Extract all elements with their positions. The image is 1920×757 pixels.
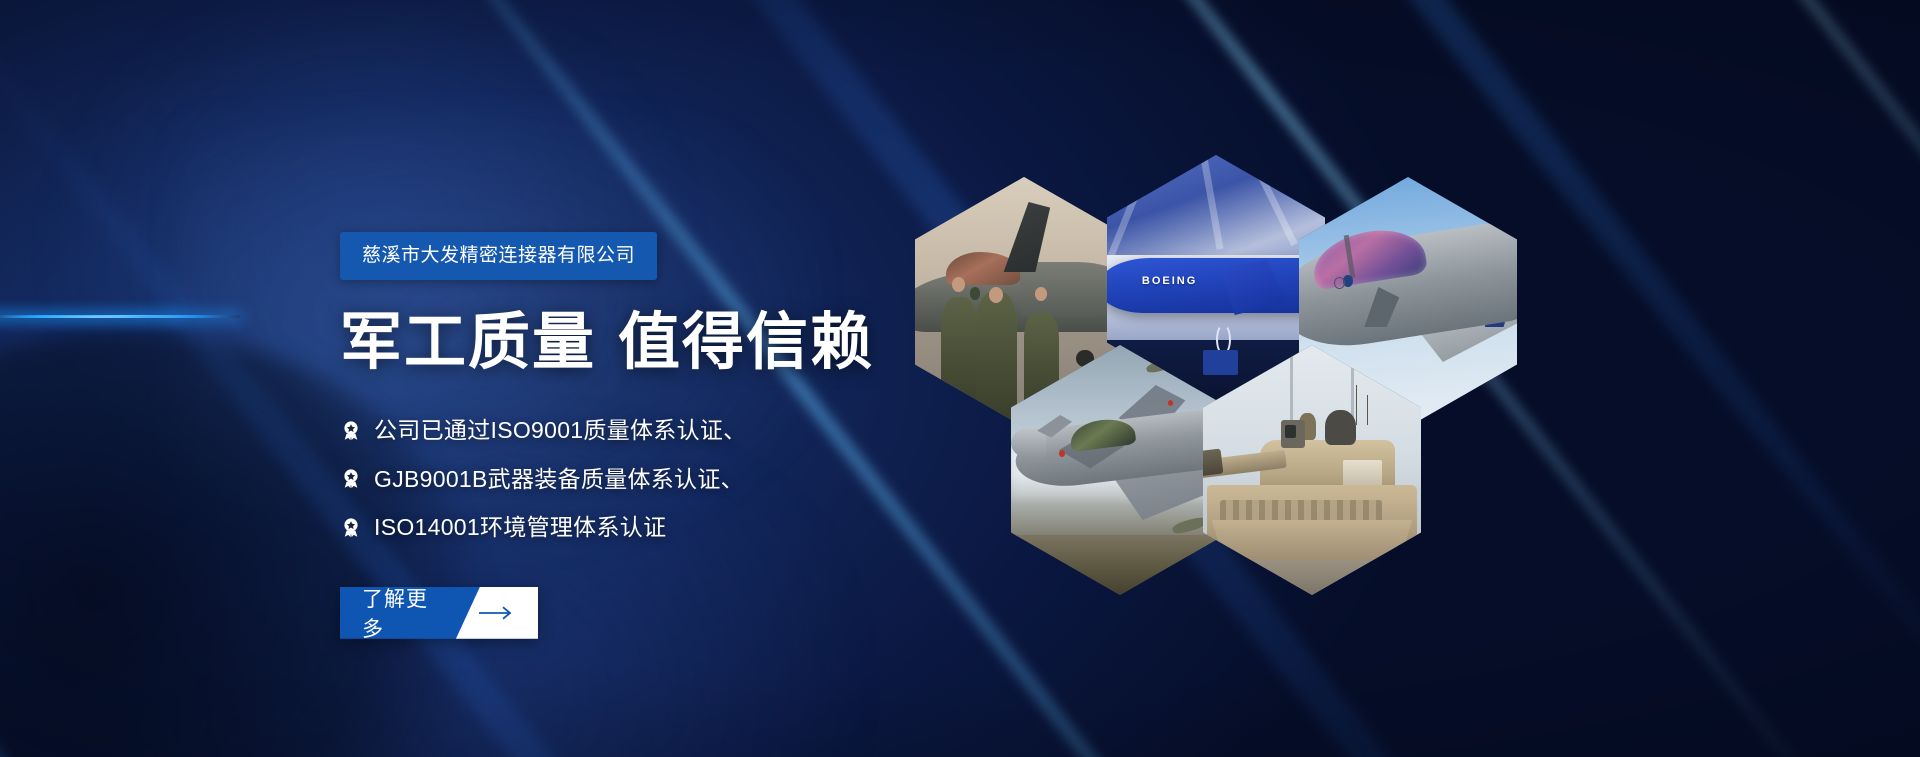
list-item: 公司已通过ISO9001质量体系认证、 [340,417,1040,445]
page-title: 军工质量值得信赖 [340,310,1040,377]
award-medal-icon [340,516,362,540]
headline-part-2: 值得信赖 [618,308,874,377]
award-medal-icon [340,419,362,443]
learn-more-label: 了解更多 [340,587,480,639]
company-name-badge: 慈溪市大发精密连接器有限公司 [340,232,657,280]
certification-text: ISO14001环境管理体系认证 [374,514,666,542]
hero-content: 慈溪市大发精密连接器有限公司 军工质量值得信赖 公司已通过ISO9001质量体系… [340,232,1040,639]
certification-list: 公司已通过ISO9001质量体系认证、 GJB9001B武器装备质量体系认证、 [340,417,1040,542]
headline-part-1: 军工质量 [340,308,596,377]
list-item: ISO14001环境管理体系认证 [340,514,1040,542]
list-item: GJB9001B武器装备质量体系认证、 [340,466,1040,494]
boeing-logo-text: BOEING [1142,275,1197,287]
certification-text: GJB9001B武器装备质量体系认证、 [374,466,744,494]
award-medal-icon [340,467,362,491]
certification-text: 公司已通过ISO9001质量体系认证、 [374,417,747,445]
learn-more-button[interactable]: 了解更多 [340,587,538,639]
hero-banner: BOEING [0,0,1920,757]
